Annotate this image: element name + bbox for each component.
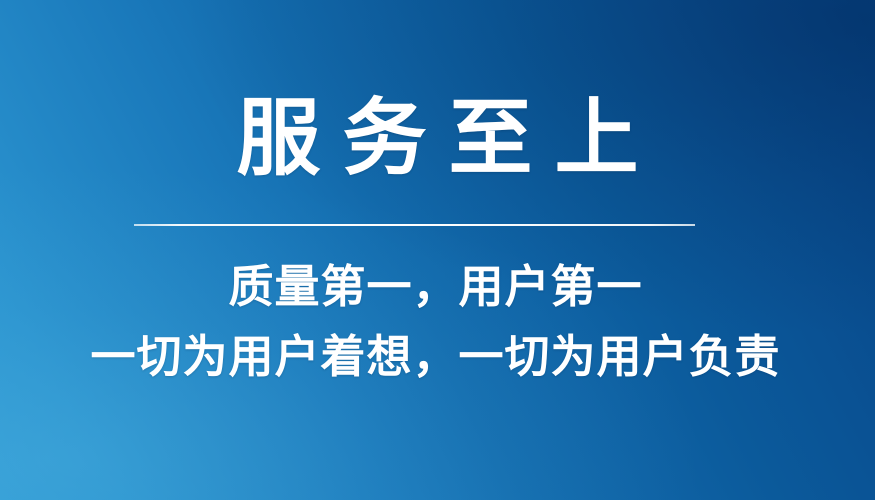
subtitle-group: 质量第一，用户第一 一切为用户着想，一切为用户负责 [0, 252, 875, 392]
subtitle-line-2: 一切为用户着想，一切为用户负责 [0, 322, 875, 392]
subtitle-line-1: 质量第一，用户第一 [0, 252, 875, 322]
slogan-poster: 服务至上 质量第一，用户第一 一切为用户着想，一切为用户负责 [0, 0, 875, 500]
title-divider [134, 224, 695, 226]
poster-content: 服务至上 质量第一，用户第一 一切为用户着想，一切为用户负责 [0, 0, 875, 500]
page-title: 服务至上 [0, 96, 875, 180]
